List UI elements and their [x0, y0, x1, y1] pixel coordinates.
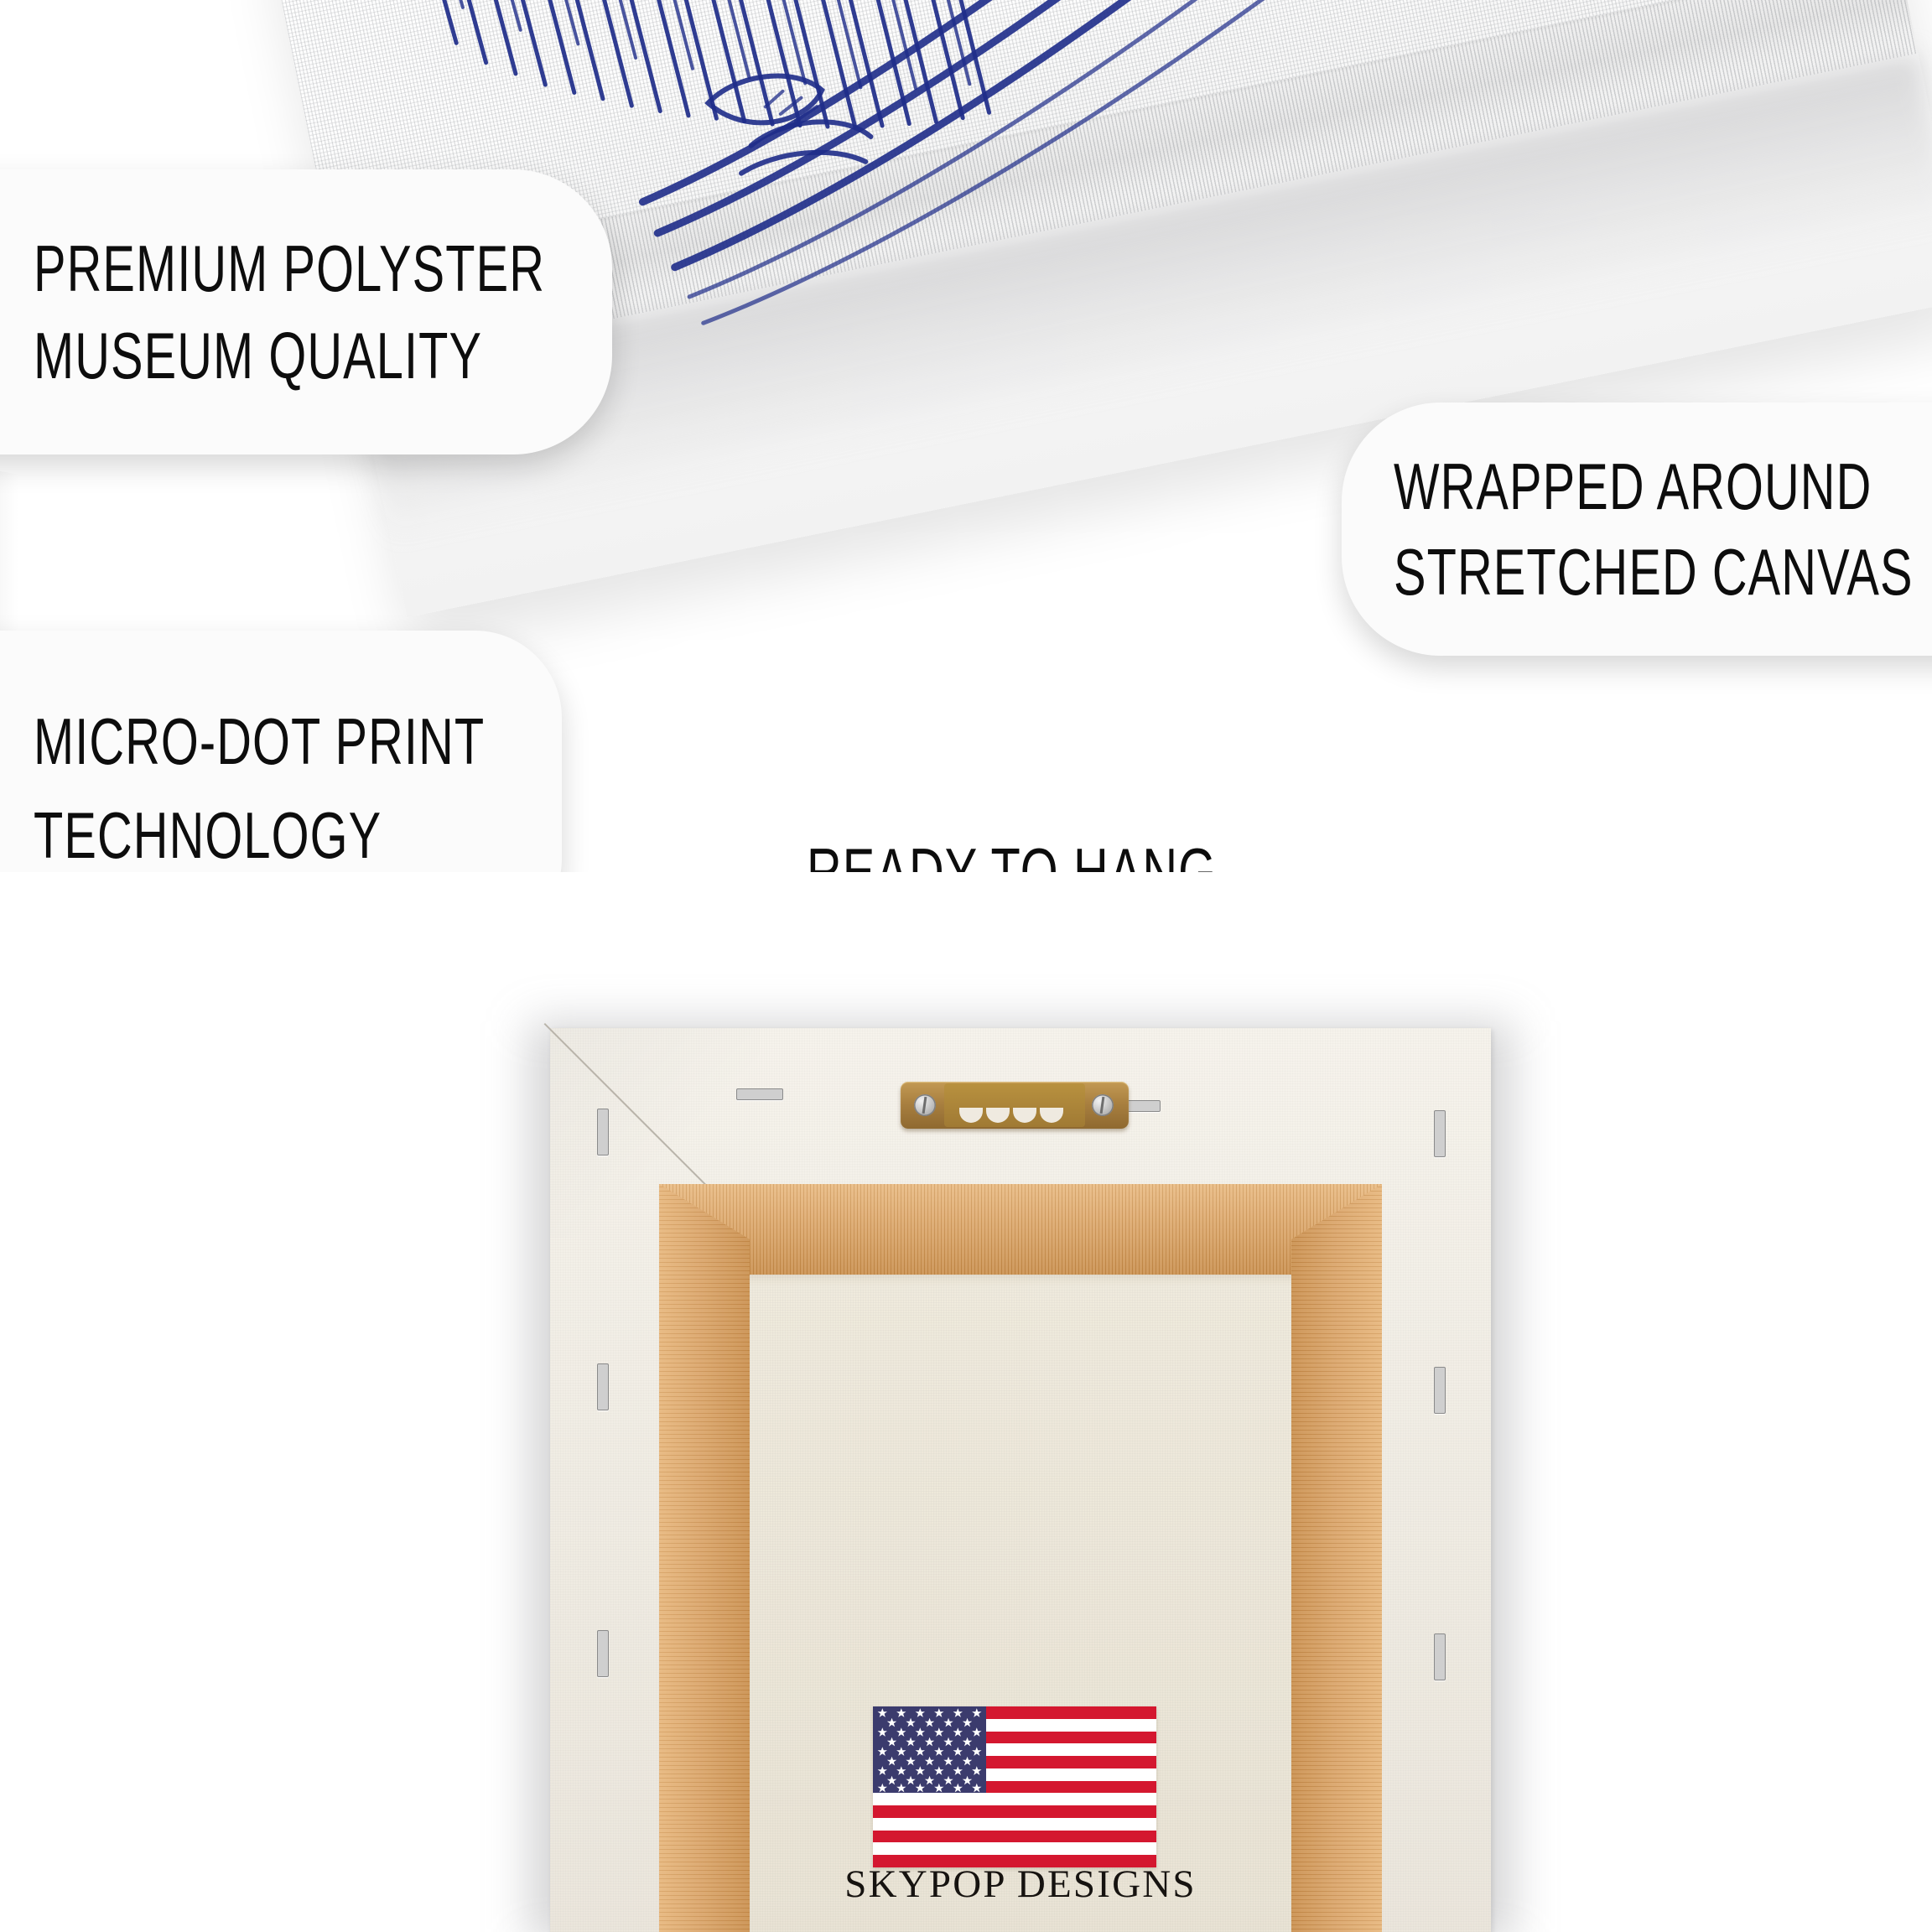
- staple: [1434, 1367, 1446, 1414]
- stretcher-bar-right: [1291, 1184, 1382, 1932]
- staple: [736, 1088, 783, 1100]
- feature-line-1: WRAPPED AROUND: [1394, 444, 1851, 529]
- hanger-screw: [1092, 1094, 1114, 1116]
- feature-line-1: MICRO-DOT PRINT: [34, 694, 424, 788]
- flag-stars: [873, 1706, 986, 1793]
- us-flag-icon: [873, 1706, 1156, 1867]
- feature-line-2: MUSEUM QUALITY: [34, 312, 462, 399]
- staple: [1434, 1110, 1446, 1157]
- staple: [597, 1363, 609, 1410]
- feature-card-wrapped-around: WRAPPED AROUND STRETCHED CANVAS: [1342, 402, 1932, 656]
- staple: [597, 1630, 609, 1677]
- flag-canton: [873, 1706, 986, 1793]
- feature-line-1: PREMIUM POLYSTER: [34, 225, 462, 312]
- feature-line-2: STRETCHED CANVAS: [1394, 529, 1851, 615]
- brand-label: SKYPOP DESIGNS: [714, 1862, 1327, 1907]
- staple: [597, 1109, 609, 1156]
- stretcher-bar-left: [659, 1184, 750, 1932]
- infographic-canvas: PREMIUM POLYSTER MUSEUM QUALITY MICRO-DO…: [0, 0, 1932, 1932]
- feature-line-2: TECHNOLOGY: [34, 788, 424, 882]
- staple: [1434, 1633, 1446, 1680]
- feature-card-premium-polyester: PREMIUM POLYSTER MUSEUM QUALITY: [0, 169, 612, 454]
- stretcher-bar-top: [659, 1184, 1382, 1275]
- sawtooth-hanger-icon: [901, 1082, 1129, 1129]
- hanger-screw: [914, 1094, 936, 1116]
